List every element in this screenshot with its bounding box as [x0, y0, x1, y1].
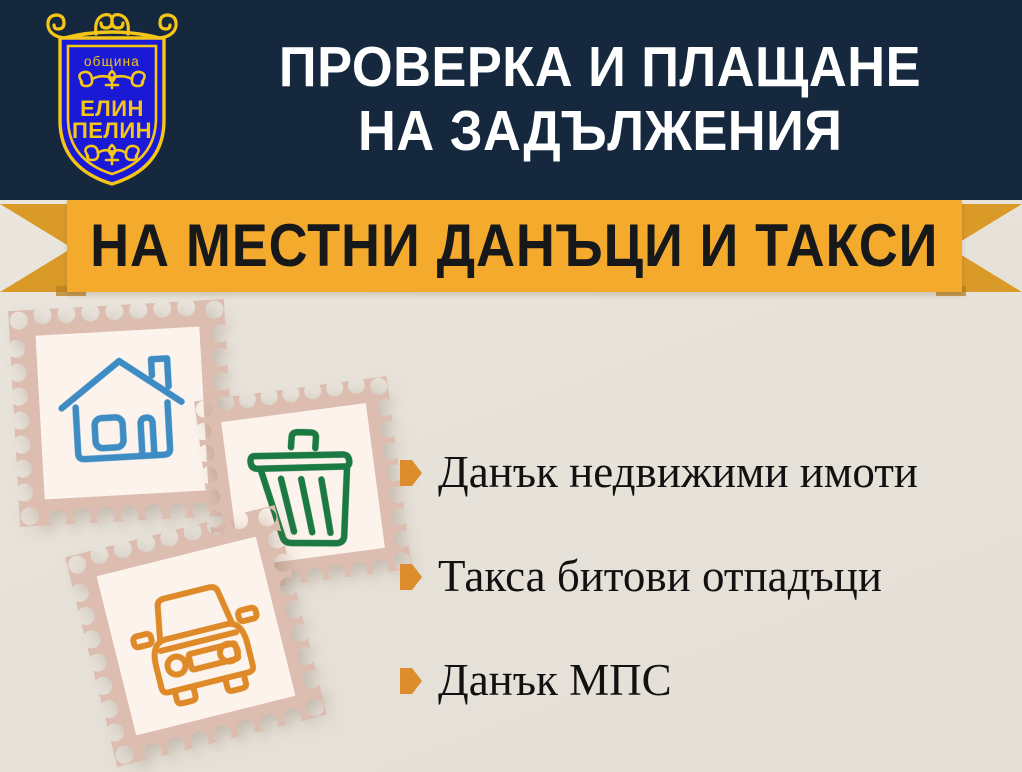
ribbon-band: НА МЕСТНИ ДАНЪЦИ И ТАКСИ	[67, 200, 962, 292]
tax-type-list: Данък недвижими имоти Такса битови отпад…	[400, 420, 1010, 732]
municipality-logo: община ЕЛИН ПЕЛИН	[38, 8, 186, 190]
list-item[interactable]: Данък МПС	[400, 628, 1010, 732]
list-item-label: Данък недвижими имоти	[438, 450, 918, 495]
list-item-label: Данък МПС	[438, 658, 672, 703]
arrow-bullet-icon	[400, 564, 422, 590]
stamp-illustration-group	[0, 300, 420, 772]
ribbon-label: НА МЕСТНИ ДАНЪЦИ И ТАКСИ	[90, 216, 938, 276]
poster-title: ПРОВЕРКА И ПЛАЩАНЕ НА ЗАДЪЛЖЕНИЯ	[190, 14, 1010, 186]
logo-text-obshtina: община	[84, 54, 140, 69]
arrow-bullet-icon	[400, 668, 422, 694]
logo-text-pelin: ПЕЛИН	[72, 118, 152, 143]
list-item[interactable]: Данък недвижими имоти	[400, 420, 1010, 524]
title-line-2: НА ЗАДЪЛЖЕНИЯ	[358, 100, 842, 164]
list-item-label: Такса битови отпадъци	[438, 554, 882, 599]
list-item[interactable]: Такса битови отпадъци	[400, 524, 1010, 628]
poster-canvas: община ЕЛИН ПЕЛИН	[0, 0, 1022, 772]
arrow-bullet-icon	[400, 460, 422, 486]
title-line-1: ПРОВЕРКА И ПЛАЩАНЕ	[279, 36, 921, 100]
subtitle-ribbon: НА МЕСТНИ ДАНЪЦИ И ТАКСИ	[0, 200, 1022, 300]
